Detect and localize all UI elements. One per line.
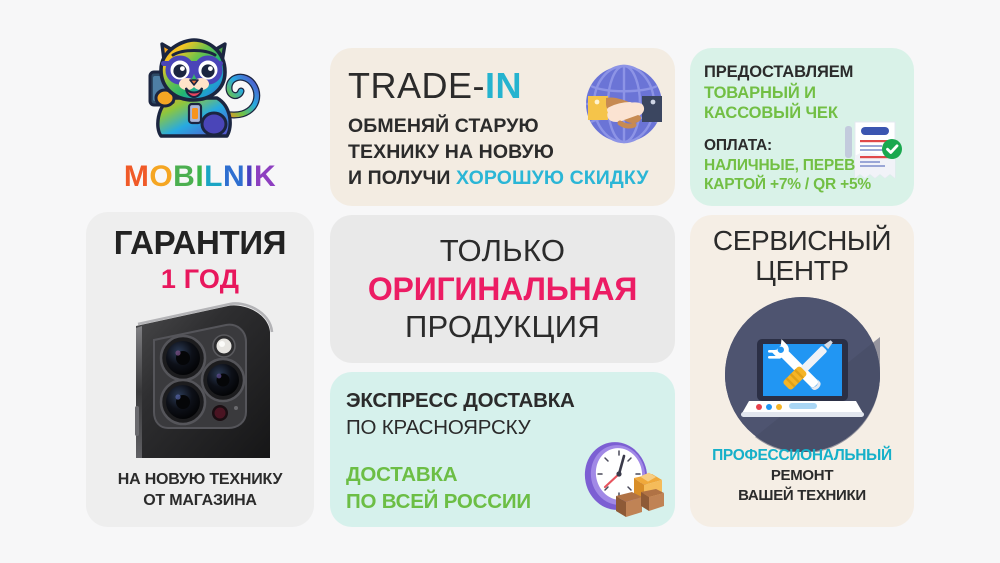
service-footnote: ПРОФЕССИОНАЛЬНЫЙ РЕМОНТ ВАШЕЙ ТЕХНИКИ <box>690 446 914 505</box>
service-title-line-2: ЦЕНТР <box>690 256 914 286</box>
guarantee-title: ГАРАНТИЯ <box>86 224 314 262</box>
brand-letter-1: O <box>149 162 173 192</box>
promo-banner: MOBILNIK TRADE-IN ОБМЕНЯЙ СТАРУЮ ТЕХНИКУ… <box>0 0 1000 563</box>
receipt-payment-card: ПРЕДОСТАВЛЯЕМ ТОВАРНЫЙ И КАССОВЫЙ ЧЕК ОП… <box>690 48 914 206</box>
brand-logo-block: MOBILNIK <box>86 26 314 206</box>
clock-with-parcels-icon <box>578 434 666 522</box>
guarantee-foot-line-1: НА НОВУЮ ТЕХНИКУ <box>86 470 314 490</box>
laptop-repair-tools-icon <box>725 297 880 452</box>
receipt-line-1: ПРЕДОСТАВЛЯЕМ <box>704 62 894 83</box>
original-product-card: ТОЛЬКО ОРИГИНАЛЬНАЯ ПРОДУКЦИЯ <box>330 215 675 363</box>
trade-in-title-accent: IN <box>485 65 522 106</box>
brand-letter-6: I <box>245 162 254 192</box>
brand-letter-2: B <box>173 162 195 192</box>
service-center-card: СЕРВИСНЫЙ ЦЕНТР <box>690 215 914 527</box>
russia-delivery-line-1: ДОСТАВКА <box>346 462 531 489</box>
service-title-line-1: СЕРВИСНЫЙ <box>690 226 914 256</box>
receipt-headline: ПРЕДОСТАВЛЯЕМ ТОВАРНЫЙ И КАССОВЫЙ ЧЕК <box>704 62 894 124</box>
brand-letter-4: L <box>204 162 223 192</box>
guarantee-foot-line-2: ОТ МАГАЗИНА <box>86 491 314 511</box>
service-foot-line-2: РЕМОНТ <box>690 466 914 486</box>
brand-letter-3: I <box>195 162 204 192</box>
receipt-line-2: ТОВАРНЫЙ И <box>704 83 894 104</box>
service-foot-line-3: ВАШЕЙ ТЕХНИКИ <box>690 486 914 506</box>
original-line-2: ОРИГИНАЛЬНАЯ <box>368 271 637 308</box>
receipt-check-icon <box>842 116 904 186</box>
original-line-3: ПРОДУКЦИЯ <box>405 309 600 345</box>
brand-letter-7: K <box>254 162 276 192</box>
guarantee-footnote: НА НОВУЮ ТЕХНИКУ ОТ МАГАЗИНА <box>86 470 314 511</box>
original-line-1: ТОЛЬКО <box>440 233 566 269</box>
express-delivery-city: ПО КРАСНОЯРСКУ <box>346 415 575 442</box>
service-foot-line-1: ПРОФЕССИОНАЛЬНЫЙ <box>690 446 914 466</box>
brand-wordmark: MOBILNIK <box>124 162 276 192</box>
trade-in-card: TRADE-IN ОБМЕНЯЙ СТАРУЮ ТЕХНИКУ НА НОВУЮ… <box>330 48 675 206</box>
russia-delivery-line-2: ПО ВСЕЙ РОССИИ <box>346 489 531 516</box>
express-delivery-title: ЭКСПРЕСС ДОСТАВКА <box>346 388 575 415</box>
trade-in-line-3-plain: И ПОЛУЧИ <box>348 167 456 189</box>
trade-in-title-main: TRADE- <box>348 65 485 106</box>
brand-letter-5: N <box>223 162 245 192</box>
express-delivery-block: ЭКСПРЕСС ДОСТАВКА ПО КРАСНОЯРСКУ <box>346 388 575 441</box>
trade-in-line-3-accent: ХОРОШУЮ СКИДКУ <box>456 167 649 189</box>
trade-in-line-3: И ПОЛУЧИ ХОРОШУЮ СКИДКУ <box>348 166 649 192</box>
trade-in-title: TRADE-IN <box>348 65 522 107</box>
globe-handshake-icon <box>580 60 668 148</box>
russia-delivery-block: ДОСТАВКА ПО ВСЕЙ РОССИИ <box>346 462 531 515</box>
iphone-pro-camera-module-photo <box>118 300 290 458</box>
guarantee-duration: 1 ГОД <box>86 264 314 295</box>
delivery-card: ЭКСПРЕСС ДОСТАВКА ПО КРАСНОЯРСКУ ДОСТАВК… <box>330 372 675 527</box>
brand-letter-0: M <box>124 162 150 192</box>
guarantee-card: ГАРАНТИЯ 1 ГОД <box>86 212 314 527</box>
rainbow-cat-with-smartphone-icon <box>125 28 275 160</box>
service-center-title: СЕРВИСНЫЙ ЦЕНТР <box>690 226 914 286</box>
